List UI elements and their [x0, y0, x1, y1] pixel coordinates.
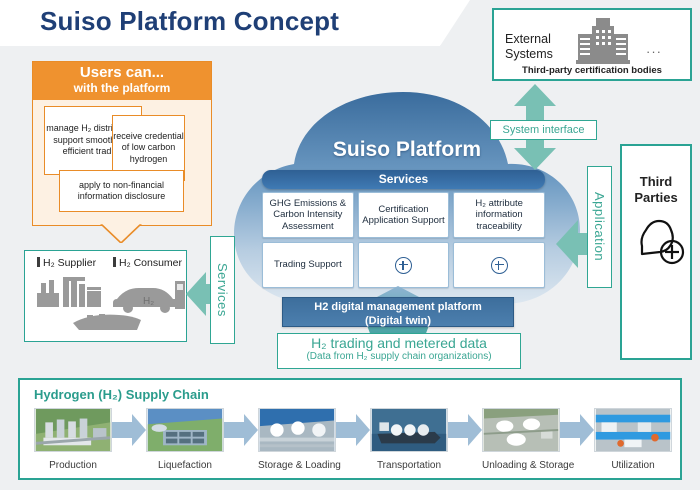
- utilization-thumbnail-icon: [594, 408, 672, 452]
- user-capability-card[interactable]: apply to non-financial information discl…: [59, 170, 184, 212]
- supply-chain-step-label: Utilization: [594, 460, 672, 471]
- digital-twin-label: H2 digital management platform (Digital …: [282, 297, 514, 327]
- bullet-icon: [37, 257, 40, 267]
- external-systems-box: External Systems ··· Third-party certifi…: [492, 8, 692, 81]
- service-card-trading[interactable]: Trading Support: [262, 242, 354, 288]
- services-bar: Services: [262, 170, 545, 189]
- supply-chain-step[interactable]: Utilization: [594, 408, 672, 471]
- service-card-add-1[interactable]: [358, 242, 450, 288]
- supply-chain-steps: Production Liquefaction: [34, 408, 670, 474]
- consumer-label-group: H₂ Consumer: [113, 257, 182, 269]
- application-vertical-label-text: Application: [592, 192, 607, 261]
- supplier-consumer-box: H₂ Supplier H₂ Consumer: [24, 250, 187, 342]
- supply-chain-step-label: Storage & Loading: [258, 460, 336, 471]
- supply-chain-arrow-icon: [560, 408, 594, 452]
- supply-chain-step[interactable]: Liquefaction: [146, 408, 224, 471]
- storage-loading-thumbnail-icon: [258, 408, 336, 452]
- trading-data-main: H₂ trading and metered data: [278, 335, 520, 351]
- supplier-label-group: H₂ Supplier: [37, 257, 96, 269]
- users-panel-header: Users can... with the platform: [33, 62, 211, 100]
- services-vertical-label-text: Services: [215, 263, 230, 317]
- service-card-label: H₂ attribute information traceability: [456, 198, 542, 233]
- service-card-label: Trading Support: [274, 259, 342, 271]
- supply-chain-step-label: Unloading & Storage: [482, 460, 560, 471]
- supplier-label: H₂ Supplier: [43, 257, 96, 269]
- third-parties-box: Third Parties: [620, 144, 692, 360]
- production-thumbnail-icon: [34, 408, 112, 452]
- diagram-canvas: Suiso Platform Concept Suiso Platform Se…: [0, 0, 700, 490]
- third-parties-title-line1: Third: [622, 174, 690, 190]
- external-systems-title-line2: Systems: [505, 47, 553, 62]
- person-add-icon: [628, 212, 690, 268]
- page-title: Suiso Platform Concept: [40, 6, 339, 37]
- consumer-label: H₂ Consumer: [119, 257, 182, 269]
- supply-chain-panel: Hydrogen (H₂) Supply Chain Production: [18, 378, 682, 480]
- transportation-thumbnail-icon: [370, 408, 448, 452]
- liquefaction-thumbnail-icon: [146, 408, 224, 452]
- supply-chain-step-label: Liquefaction: [146, 460, 224, 471]
- supply-chain-arrow-icon: [448, 408, 482, 452]
- supply-chain-arrow-icon: [224, 408, 258, 452]
- trading-data-box: H₂ trading and metered data (Data from H…: [277, 333, 521, 369]
- plus-circle-icon: [491, 257, 508, 274]
- users-panel-heading-1: Users can...: [33, 64, 211, 81]
- users-panel-heading-2: with the platform: [33, 81, 211, 95]
- supply-chain-arrow-icon: [336, 408, 370, 452]
- government-building-icon: [572, 16, 634, 64]
- supply-chain-step[interactable]: Production: [34, 408, 112, 471]
- application-vertical-label: Application: [587, 166, 612, 288]
- supply-chain-step[interactable]: Transportation: [370, 408, 448, 471]
- external-systems-ellipsis: ···: [646, 44, 662, 59]
- supply-consumer-illustration-icon: H₂: [25, 271, 188, 339]
- users-panel-down-pointer-icon: [100, 223, 142, 243]
- digital-twin-line2: (Digital twin): [283, 314, 513, 328]
- users-panel: Users can... with the platform manage H₂…: [32, 61, 212, 226]
- system-interface-label: System interface: [490, 120, 597, 140]
- supply-chain-step-label: Production: [34, 460, 112, 471]
- svg-text:H₂: H₂: [143, 296, 154, 307]
- unloading-storage-thumbnail-icon: [482, 408, 560, 452]
- external-systems-caption: Third-party certification bodies: [494, 65, 690, 76]
- supply-chain-step[interactable]: Storage & Loading: [258, 408, 336, 471]
- service-card-ghg[interactable]: GHG Emissions & Carbon Intensity Assessm…: [262, 192, 354, 238]
- supply-chain-step[interactable]: Unloading & Storage: [482, 408, 560, 471]
- third-parties-title: Third Parties: [622, 174, 690, 206]
- supply-chain-step-label: Transportation: [370, 460, 448, 471]
- service-card-certification[interactable]: Certification Application Support: [358, 192, 450, 238]
- services-vertical-label: Services: [210, 236, 235, 344]
- supply-chain-title: Hydrogen (H₂) Supply Chain: [34, 387, 209, 402]
- supply-chain-arrow-icon: [112, 408, 146, 452]
- user-capability-label: apply to non-financial information discl…: [60, 180, 183, 203]
- service-card-traceability[interactable]: H₂ attribute information traceability: [453, 192, 545, 238]
- trading-data-sub: (Data from H₂ supply chain organizations…: [278, 351, 520, 363]
- bullet-icon: [113, 257, 116, 267]
- service-card-label: GHG Emissions & Carbon Intensity Assessm…: [265, 198, 351, 233]
- plus-circle-icon: [395, 257, 412, 274]
- digital-twin-line1: H2 digital management platform: [283, 300, 513, 314]
- user-capability-label: receive credential of low carbon hydroge…: [113, 131, 184, 166]
- service-grid: GHG Emissions & Carbon Intensity Assessm…: [262, 192, 545, 288]
- external-systems-title: External Systems: [505, 32, 553, 62]
- third-parties-title-line2: Parties: [622, 190, 690, 206]
- external-systems-title-line1: External: [505, 32, 553, 47]
- service-card-label: Certification Application Support: [361, 204, 447, 227]
- service-card-add-2[interactable]: [453, 242, 545, 288]
